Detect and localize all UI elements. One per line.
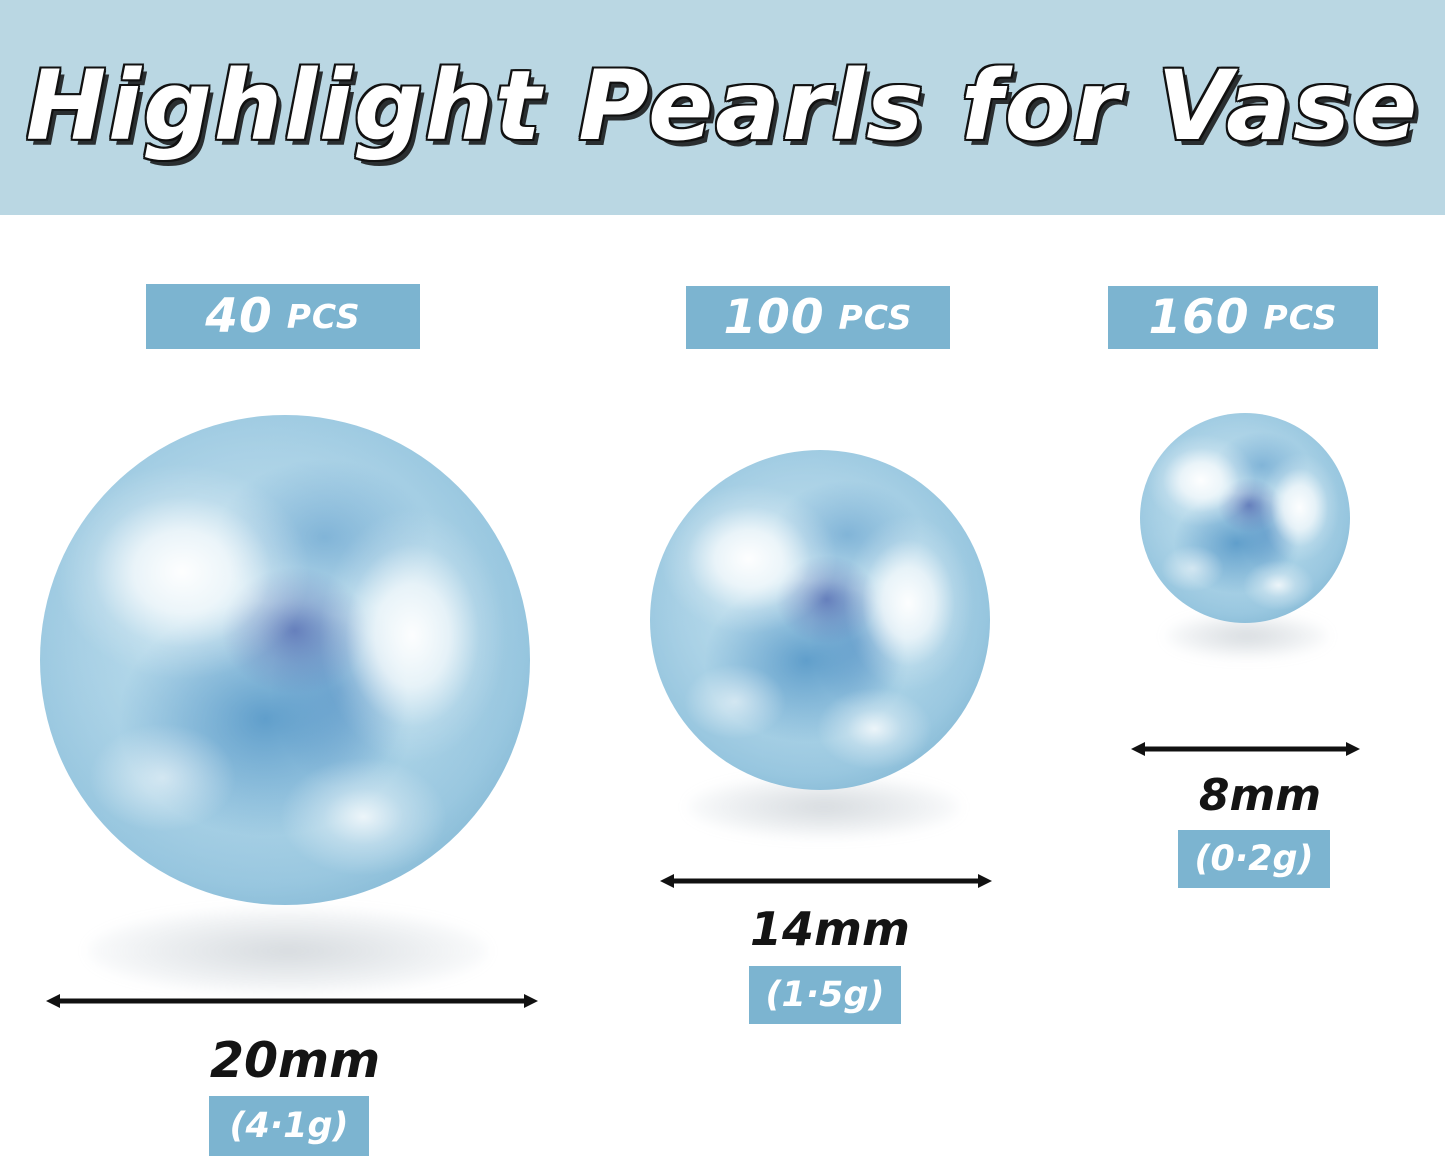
count-badge-100pcs: 100 PCS	[686, 286, 950, 349]
dimension-label-8mm: 8mm	[1160, 770, 1360, 821]
pearl-image-large	[40, 415, 530, 905]
dimension-arrow-20mm	[46, 990, 538, 1012]
page-title: Highlight Pearls for Vase	[0, 56, 1445, 157]
dimension-label-20mm: 20mm	[140, 1032, 450, 1089]
count-badge-40pcs: 40 PCS	[146, 284, 420, 349]
header-banner: Highlight Pearls for Vase	[0, 0, 1445, 215]
count-number: 40	[205, 293, 272, 340]
count-unit: PCS	[287, 300, 361, 333]
dimension-arrow-8mm	[1131, 738, 1360, 760]
pearl-shadow-large	[88, 908, 488, 994]
product-infographic: Highlight Pearls for Vase 40 PCS 20mm (4…	[0, 0, 1445, 1164]
count-unit: PCS	[839, 301, 913, 334]
count-number: 100	[723, 294, 824, 341]
pearl-image-small	[1140, 413, 1350, 623]
count-number: 160	[1148, 294, 1249, 341]
pearl-image-medium	[650, 450, 990, 790]
weight-badge-14mm: (1·5g)	[749, 966, 901, 1024]
count-unit: PCS	[1264, 301, 1338, 334]
dimension-label-14mm: 14mm	[700, 902, 960, 956]
dimension-arrow-14mm	[660, 870, 992, 892]
weight-badge-20mm: (4·1g)	[209, 1096, 369, 1156]
weight-badge-8mm: (0·2g)	[1178, 830, 1330, 888]
count-badge-160pcs: 160 PCS	[1108, 286, 1378, 349]
